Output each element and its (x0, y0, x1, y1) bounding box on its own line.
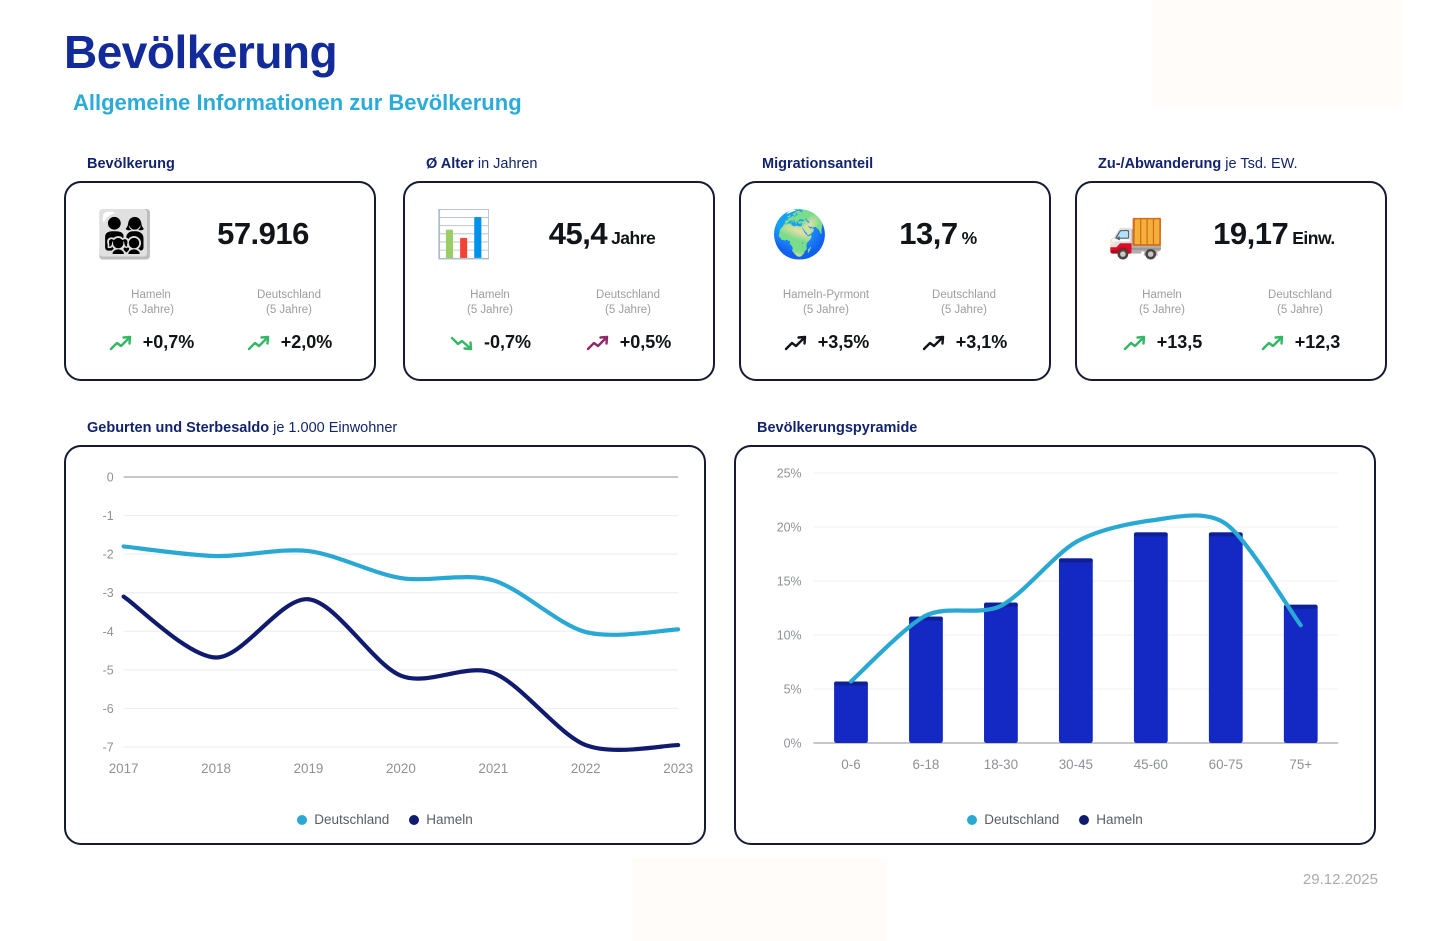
y-axis-tick-label: 0 (107, 470, 114, 484)
x-axis-tick-label: 2021 (478, 761, 508, 776)
comparison-change-value: +12,3 (1295, 332, 1341, 353)
kpi-heading: Zu-/Abwanderung je Tsd. EW. (1098, 156, 1387, 172)
comparison-change-value: +0,5% (620, 332, 672, 353)
watermark-bottom (632, 858, 887, 941)
legend-label: Deutschland (314, 812, 389, 827)
births-deaths-legend: DeutschlandHameln (66, 812, 704, 827)
kpi-value: 45,4Jahre (507, 216, 697, 252)
y-axis-tick-label: 25% (777, 466, 802, 480)
population-pyramid-chart-heading: Bevölkerungspyramide (757, 420, 1376, 436)
legend-label: Hameln (426, 812, 473, 827)
legend-item-deutschland[interactable]: Deutschland (967, 812, 1059, 827)
legend-item-deutschland[interactable]: Deutschland (297, 812, 389, 827)
kpi-card-row: Bevölkerung👨‍👩‍👧‍👦57.916Hameln(5 Jahre)+… (64, 156, 1394, 388)
legend-label: Deutschland (984, 812, 1059, 827)
legend-dot-icon (409, 815, 419, 825)
trend-up-icon (108, 333, 135, 353)
legend-dot-icon (1079, 815, 1089, 825)
comparison-trend: -0,7% (421, 332, 559, 353)
y-axis-tick-label: -1 (103, 509, 114, 523)
bar-45-60[interactable] (1134, 532, 1168, 743)
trend-up-icon (585, 333, 612, 353)
kpi-card-1: Bevölkerung👨‍👩‍👧‍👦57.916Hameln(5 Jahre)+… (64, 156, 376, 381)
y-axis-tick-label: 20% (777, 520, 802, 534)
dashboard-page: Bevölkerung Allgemeine Informationen zur… (0, 0, 1440, 941)
kpi-comparison-2: Deutschland(5 Jahre)+0,5% (559, 288, 697, 353)
heading-regular-part: in Jahren (474, 156, 538, 172)
x-axis-tick-label: 2023 (663, 761, 693, 776)
x-axis-tick-label: 2017 (109, 761, 139, 776)
x-axis-tick-label: 6-18 (913, 757, 940, 772)
bar-6-18[interactable] (909, 617, 943, 743)
comparison-change-value: +13,5 (1157, 332, 1203, 353)
legend-item-hameln[interactable]: Hameln (1079, 812, 1143, 827)
kpi-heading: Migrationsanteil (762, 156, 1051, 172)
heading-bold-part: Ø Alter (426, 156, 474, 172)
comparison-change-value: +3,1% (956, 332, 1008, 353)
kpi-comparison-1: Hameln(5 Jahre)-0,7% (421, 288, 559, 353)
trend-up-icon (1260, 333, 1287, 353)
comparison-region: Hameln(5 Jahre) (1093, 288, 1231, 318)
x-axis-tick-label: 2018 (201, 761, 231, 776)
page-subtitle: Allgemeine Informationen zur Bevölkerung (73, 90, 522, 116)
heading-bold-part: Bevölkerungspyramide (757, 420, 917, 436)
kpi-comparison-1: Hameln(5 Jahre)+0,7% (82, 288, 220, 353)
bar-top-shade (1134, 532, 1168, 536)
comparison-change-value: +2,0% (281, 332, 333, 353)
kpi-card-3: Migrationsanteil🌍13,7%Hameln-Pyrmont(5 J… (739, 156, 1051, 381)
kpi-card-2: Ø Alter in Jahren📊45,4JahreHameln(5 Jahr… (403, 156, 715, 381)
comparison-region: Deutschland(5 Jahre) (220, 288, 358, 318)
population-pyramid-bar-chart[interactable]: 0%5%10%15%20%25%0-66-1818-3030-4545-6060… (736, 447, 1374, 799)
truck-emoji: 🚚 (1093, 211, 1179, 257)
legend-item-hameln[interactable]: Hameln (409, 812, 473, 827)
trend-down-icon (449, 333, 476, 353)
kpi-card-top: 🚚19,17Einw. (1093, 197, 1369, 271)
heading-bold-part: Migrationsanteil (762, 156, 873, 172)
heading-bold-part: Zu-/Abwanderung (1098, 156, 1221, 172)
kpi-card-top: 🌍13,7% (757, 197, 1033, 271)
page-header: Bevölkerung Allgemeine Informationen zur… (64, 28, 522, 116)
comparison-region: Deutschland(5 Jahre) (1231, 288, 1369, 318)
x-axis-tick-label: 2019 (294, 761, 324, 776)
births-deaths-chart-block: Geburten und Sterbesaldo je 1.000 Einwoh… (64, 420, 706, 845)
population-pyramid-legend: DeutschlandHameln (736, 812, 1374, 827)
kpi-card-body: 🌍13,7%Hameln-Pyrmont(5 Jahre)+3,5%Deutsc… (739, 181, 1051, 381)
line-series-deutschland[interactable] (124, 546, 679, 634)
y-axis-tick-label: -7 (103, 740, 114, 754)
x-axis-tick-label: 75+ (1289, 757, 1312, 772)
kpi-value: 19,17Einw. (1179, 216, 1369, 252)
trend-up-icon (921, 333, 948, 353)
comparison-change-value: +3,5% (818, 332, 870, 353)
kpi-card-body: 🚚19,17Einw.Hameln(5 Jahre)+13,5Deutschla… (1075, 181, 1387, 381)
legend-dot-icon (297, 815, 307, 825)
kpi-comparison-2: Deutschland(5 Jahre)+3,1% (895, 288, 1033, 353)
population-pyramid-chart-block: Bevölkerungspyramide 0%5%10%15%20%25%0-6… (734, 420, 1376, 845)
births-deaths-chart-card: 0-1-2-3-4-5-6-72017201820192020202120222… (64, 445, 706, 845)
kpi-value: 57.916 (168, 216, 358, 252)
kpi-comparison-2: Deutschland(5 Jahre)+12,3 (1231, 288, 1369, 353)
kpi-comparisons: Hameln(5 Jahre)+0,7%Deutschland(5 Jahre)… (82, 288, 358, 353)
comparison-trend: +0,7% (82, 332, 220, 353)
bar-60-75[interactable] (1209, 532, 1243, 743)
kpi-comparisons: Hameln-Pyrmont(5 Jahre)+3,5%Deutschland(… (757, 288, 1033, 353)
kpi-value: 13,7% (843, 216, 1033, 252)
legend-label: Hameln (1096, 812, 1143, 827)
comparison-region: Hameln(5 Jahre) (82, 288, 220, 318)
kpi-comparison-1: Hameln(5 Jahre)+13,5 (1093, 288, 1231, 353)
line-series-hameln[interactable] (124, 597, 679, 750)
x-axis-tick-label: 30-45 (1059, 757, 1093, 772)
population-pyramid-chart-card: 0%5%10%15%20%25%0-66-1818-3030-4545-6060… (734, 445, 1376, 845)
comparison-region: Deutschland(5 Jahre) (895, 288, 1033, 318)
kpi-unit: Jahre (611, 228, 655, 248)
kpi-comparison-2: Deutschland(5 Jahre)+2,0% (220, 288, 358, 353)
kpi-comparison-1: Hameln-Pyrmont(5 Jahre)+3,5% (757, 288, 895, 353)
x-axis-tick-label: 2022 (571, 761, 601, 776)
x-axis-tick-label: 18-30 (984, 757, 1018, 772)
x-axis-tick-label: 60-75 (1209, 757, 1243, 772)
comparison-trend: +0,5% (559, 332, 697, 353)
legend-dot-icon (967, 815, 977, 825)
heading-regular-part: je 1.000 Einwohner (269, 420, 397, 436)
kpi-card-body: 👨‍👩‍👧‍👦57.916Hameln(5 Jahre)+0,7%Deutsch… (64, 181, 376, 381)
watermark-top-right (1152, 0, 1402, 108)
export-date: 29.12.2025 (1303, 871, 1378, 888)
comparison-change-value: -0,7% (484, 332, 531, 353)
comparison-region: Hameln-Pyrmont(5 Jahre) (757, 288, 895, 318)
kpi-card-top: 📊45,4Jahre (421, 197, 697, 271)
comparison-trend: +3,1% (895, 332, 1033, 353)
kpi-card-4: Zu-/Abwanderung je Tsd. EW.🚚19,17Einw.Ha… (1075, 156, 1387, 381)
bar-18-30[interactable] (984, 603, 1018, 743)
births-deaths-chart-heading: Geburten und Sterbesaldo je 1.000 Einwoh… (87, 420, 706, 436)
x-axis-tick-label: 2020 (386, 761, 416, 776)
trend-up-icon (1122, 333, 1149, 353)
y-axis-tick-label: -4 (103, 625, 114, 639)
x-axis-tick-label: 45-60 (1134, 757, 1168, 772)
comparison-change-value: +0,7% (143, 332, 195, 353)
comparison-trend: +12,3 (1231, 332, 1369, 353)
y-axis-tick-label: -3 (103, 586, 114, 600)
family-emoji: 👨‍👩‍👧‍👦 (82, 211, 168, 257)
x-axis-tick-label: 0-6 (841, 757, 860, 772)
comparison-region: Hameln(5 Jahre) (421, 288, 559, 318)
comparison-trend: +13,5 (1093, 332, 1231, 353)
comparison-trend: +2,0% (220, 332, 358, 353)
y-axis-tick-label: -6 (103, 702, 114, 716)
heading-bold-part: Geburten und Sterbesaldo (87, 420, 269, 436)
page-title: Bevölkerung (64, 28, 522, 76)
trend-up-icon (783, 333, 810, 353)
kpi-comparisons: Hameln(5 Jahre)-0,7%Deutschland(5 Jahre)… (421, 288, 697, 353)
kpi-heading: Ø Alter in Jahren (426, 156, 715, 172)
heading-regular-part: je Tsd. EW. (1221, 156, 1297, 172)
kpi-card-top: 👨‍👩‍👧‍👦57.916 (82, 197, 358, 271)
globe-emoji: 🌍 (757, 211, 843, 257)
kpi-card-body: 📊45,4JahreHameln(5 Jahre)-0,7%Deutschlan… (403, 181, 715, 381)
trend-up-icon (246, 333, 273, 353)
y-axis-tick-label: 0% (784, 736, 802, 750)
y-axis-tick-label: 15% (777, 574, 802, 588)
y-axis-tick-label: 5% (784, 682, 802, 696)
bar-0-6[interactable] (834, 681, 868, 743)
heading-bold-part: Bevölkerung (87, 156, 175, 172)
y-axis-tick-label: 10% (777, 628, 802, 642)
births-deaths-line-chart[interactable]: 0-1-2-3-4-5-6-72017201820192020202120222… (66, 447, 704, 799)
comparison-trend: +3,5% (757, 332, 895, 353)
kpi-heading: Bevölkerung (87, 156, 376, 172)
y-axis-tick-label: -2 (103, 548, 114, 562)
kpi-unit: % (962, 228, 977, 248)
y-axis-tick-label: -5 (103, 663, 114, 677)
bar-30-45[interactable] (1059, 558, 1093, 743)
comparison-region: Deutschland(5 Jahre) (559, 288, 697, 318)
bar-top-shade (1059, 558, 1093, 562)
bar-chart-emoji: 📊 (421, 211, 507, 257)
kpi-unit: Einw. (1292, 228, 1335, 248)
kpi-comparisons: Hameln(5 Jahre)+13,5Deutschland(5 Jahre)… (1093, 288, 1369, 353)
